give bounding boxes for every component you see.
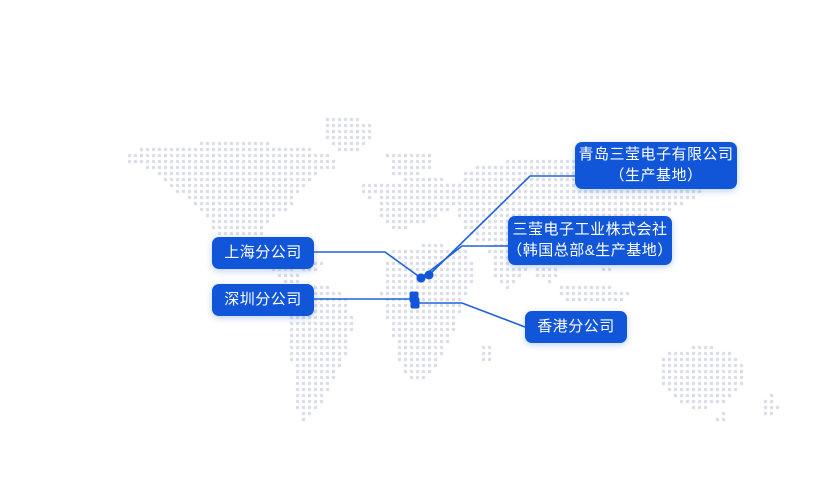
label-korea-line-1: 三莹电子工业株式会社 xyxy=(512,220,667,240)
label-hongkong-text: 香港分公司 xyxy=(537,317,615,337)
label-korea-hq[interactable]: 三莹电子工业株式会社 （韩国总部&生产基地） xyxy=(508,216,672,265)
connector-lines-layer xyxy=(0,0,824,480)
label-korea-line-2: （韩国总部&生产基地） xyxy=(507,241,673,261)
label-qingdao-line-2: （生产基地） xyxy=(609,166,702,186)
label-shanghai[interactable]: 上海分公司 xyxy=(212,237,314,269)
shanghai-marker[interactable] xyxy=(417,274,426,283)
label-qingdao-line-1: 青岛三莹电子有限公司 xyxy=(578,145,733,165)
hongkong-connector xyxy=(415,303,525,327)
qingdao-marker[interactable] xyxy=(425,271,434,280)
label-shanghai-text: 上海分公司 xyxy=(224,243,302,263)
shanghai-connector xyxy=(314,252,421,278)
label-shenzhen[interactable]: 深圳分公司 xyxy=(212,284,314,316)
infographic-root: 青岛三莹电子有限公司 （生产基地） 三莹电子工业株式会社 （韩国总部&生产基地）… xyxy=(0,0,824,480)
label-qingdao[interactable]: 青岛三莹电子有限公司 （生产基地） xyxy=(575,142,737,189)
label-shenzhen-text: 深圳分公司 xyxy=(224,290,302,310)
hongkong-marker[interactable] xyxy=(411,298,420,309)
label-hongkong[interactable]: 香港分公司 xyxy=(525,311,627,343)
korea-connector xyxy=(421,246,508,278)
